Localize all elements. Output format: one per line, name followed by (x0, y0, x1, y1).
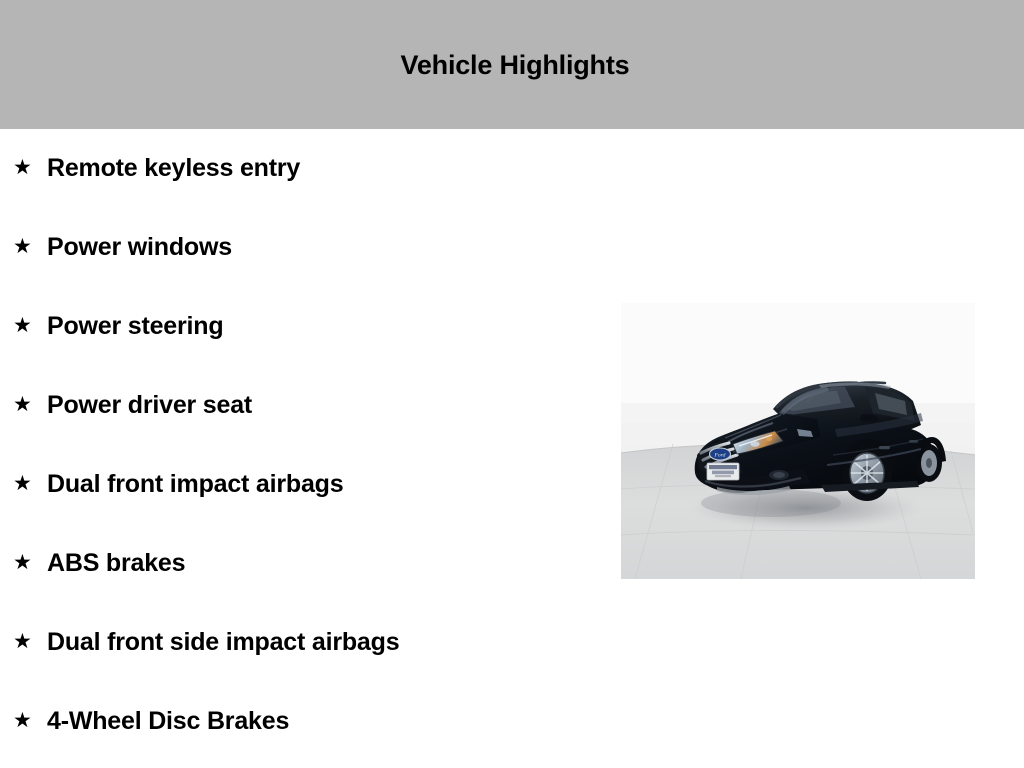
list-item-label: Remote keyless entry (47, 154, 300, 183)
list-item-label: Power steering (47, 312, 223, 341)
list-item: ★ 4-Wheel Disc Brakes (0, 682, 620, 761)
list-item: ★ Remote keyless entry (0, 129, 620, 208)
star-bullet-icon: ★ (13, 473, 31, 494)
list-item: ★ Power windows (0, 208, 620, 287)
page-title: Vehicle Highlights (0, 49, 1024, 81)
list-item-label: 4-Wheel Disc Brakes (47, 707, 289, 736)
list-item-label: Dual front impact airbags (47, 470, 343, 499)
ford-badge-text: Ford (714, 453, 726, 459)
list-item-label: Power driver seat (47, 391, 252, 420)
list-item-label: Power windows (47, 233, 232, 262)
star-bullet-icon: ★ (13, 157, 31, 178)
license-plate (707, 463, 739, 480)
vehicle-highlights-list: ★ Remote keyless entry ★ Power windows ★… (0, 129, 620, 761)
list-item: ★ Power steering (0, 287, 620, 366)
star-bullet-icon: ★ (13, 552, 31, 573)
list-item-label: Dual front side impact airbags (47, 628, 399, 657)
star-bullet-icon: ★ (13, 631, 31, 652)
star-bullet-icon: ★ (13, 394, 31, 415)
list-item: ★ Dual front side impact airbags (0, 603, 620, 682)
star-bullet-icon: ★ (13, 315, 31, 336)
list-item-label: ABS brakes (47, 549, 185, 578)
star-bullet-icon: ★ (13, 710, 31, 731)
header-band: Vehicle Highlights (0, 0, 1024, 129)
list-item: ★ Power driver seat (0, 366, 620, 445)
list-item: ★ Dual front impact airbags (0, 445, 620, 524)
vehicle-photo: Ford (621, 303, 975, 579)
vehicle-photo-image: Ford (621, 303, 975, 579)
star-bullet-icon: ★ (13, 236, 31, 257)
list-item: ★ ABS brakes (0, 524, 620, 603)
